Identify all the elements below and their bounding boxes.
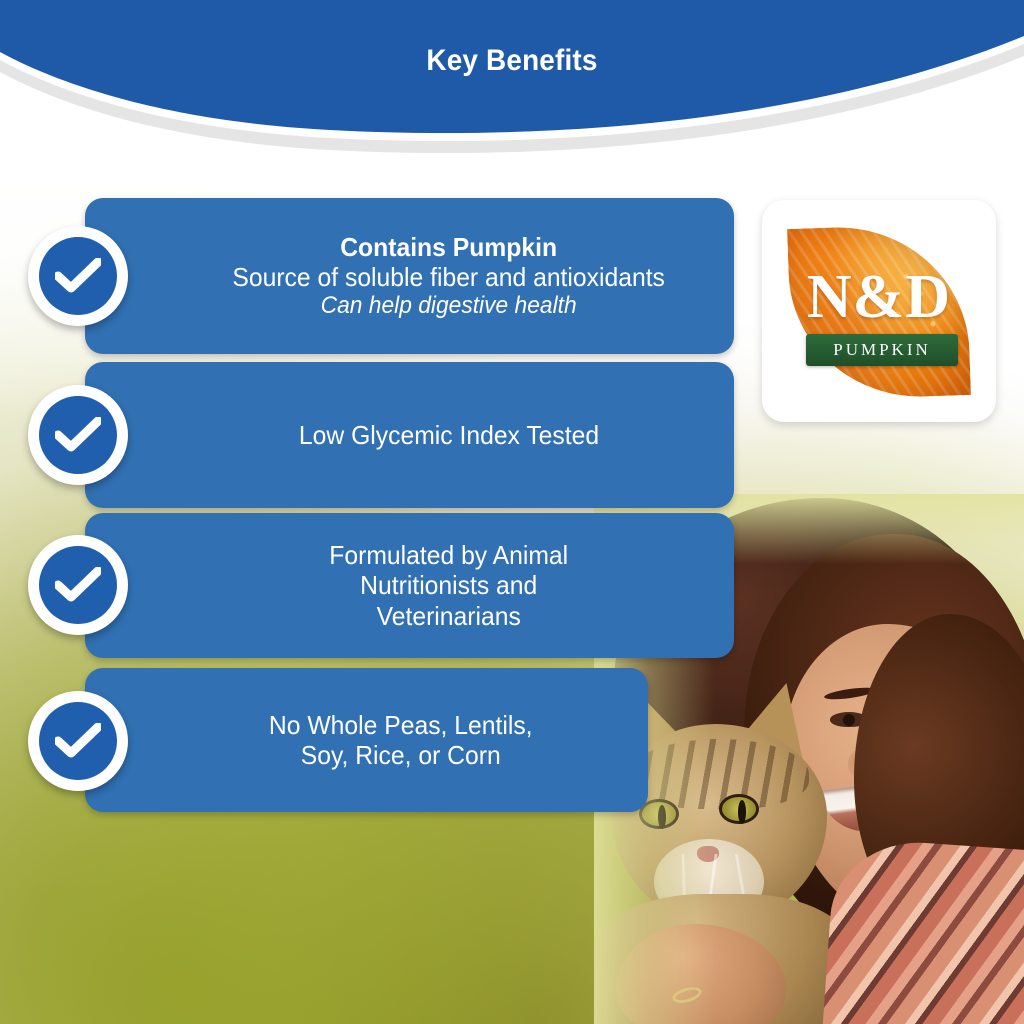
benefit-row: Formulated by Animal Nutritionists and V… (28, 513, 734, 658)
benefit-card[interactable]: Formulated by Animal Nutritionists and V… (85, 513, 734, 658)
benefit-row: Low Glycemic Index Tested (28, 362, 734, 508)
benefit-text: No Whole Peas, Lentils, Soy, Rice, or Co… (269, 710, 533, 770)
benefit-line: Low Glycemic Index Tested (299, 420, 599, 450)
benefit-card[interactable]: Contains Pumpkin Source of soluble fiber… (85, 198, 734, 354)
benefit-card[interactable]: No Whole Peas, Lentils, Soy, Rice, or Co… (85, 668, 648, 812)
poster: Key Benefits N&D PUMPKIN Contains Pumpki… (0, 0, 1024, 1024)
check-mark-icon (28, 691, 128, 791)
check-mark-circle (39, 546, 117, 624)
benefit-line: Nutritionists and (330, 570, 569, 600)
benefit-text: Formulated by Animal Nutritionists and V… (330, 540, 569, 630)
benefit-line: Veterinarians (330, 601, 569, 631)
check-mark-circle (39, 702, 117, 780)
benefit-line: No Whole Peas, Lentils, (269, 710, 533, 740)
benefit-line: Contains Pumpkin (233, 232, 666, 262)
benefit-row: No Whole Peas, Lentils, Soy, Rice, or Co… (28, 668, 648, 812)
benefit-row: Contains Pumpkin Source of soluble fiber… (28, 198, 734, 354)
benefits-list: Contains Pumpkin Source of soluble fiber… (0, 0, 1024, 1024)
benefit-text: Low Glycemic Index Tested (299, 420, 599, 450)
check-mark-circle (39, 396, 117, 474)
check-mark-icon (28, 385, 128, 485)
check-mark-icon (28, 226, 128, 326)
check-mark-circle (39, 237, 117, 315)
benefit-card[interactable]: Low Glycemic Index Tested (85, 362, 734, 508)
check-mark-icon (28, 535, 128, 635)
benefit-text: Contains Pumpkin Source of soluble fiber… (233, 232, 666, 320)
benefit-line: Can help digestive health (233, 292, 666, 320)
benefit-line: Source of soluble fiber and antioxidants (233, 262, 666, 292)
benefit-line: Soy, Rice, or Corn (269, 740, 533, 770)
benefit-line: Formulated by Animal (330, 540, 569, 570)
